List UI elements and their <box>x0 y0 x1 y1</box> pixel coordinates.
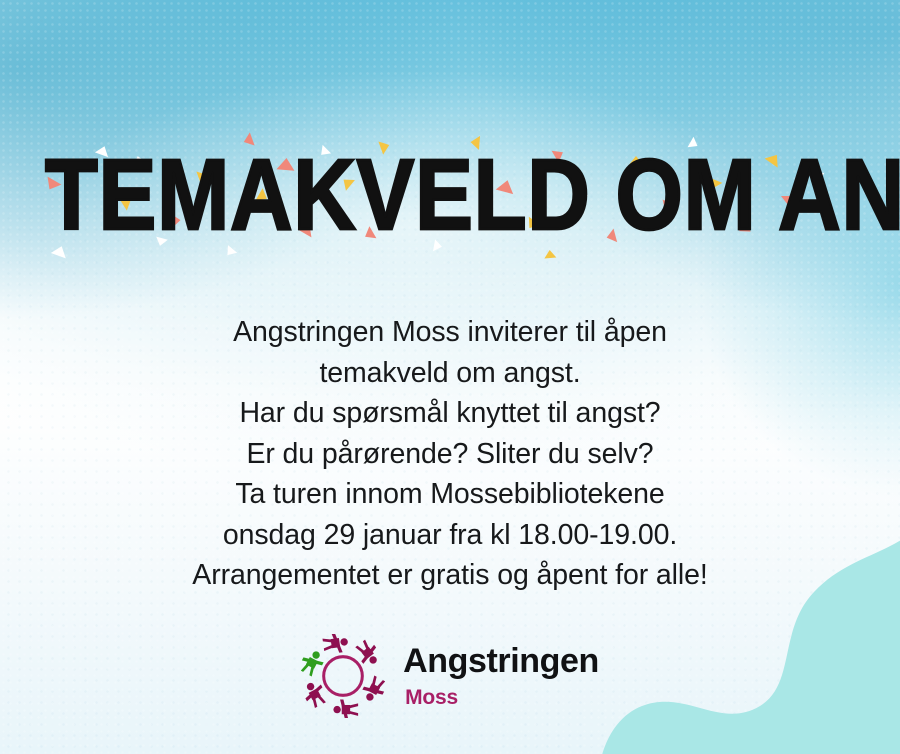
body-line: temakveld om angst. <box>0 353 900 394</box>
organization-logo: Angstringen Moss <box>0 634 900 718</box>
body-line: Angstringen Moss inviterer til åpen <box>0 312 900 353</box>
people-circle-icon <box>301 634 385 718</box>
body-line: Ta turen innom Mossebibliotekene <box>0 474 900 515</box>
body-line: Er du pårørende? Sliter du selv? <box>0 434 900 475</box>
logo-wordmark: Angstringen Moss <box>403 644 599 708</box>
person-figure-icon <box>322 634 349 655</box>
page-title: TEMAKVELD OM ANGST <box>45 146 855 246</box>
poster-canvas: TEMAKVELD OM ANGST Angstringen Moss invi… <box>0 0 900 754</box>
logo-name: Angstringen <box>403 644 599 678</box>
body-line: Har du spørsmål knyttet til angst? <box>0 393 900 434</box>
logo-subtitle: Moss <box>405 687 458 708</box>
body-line: Arrangementet er gratis og åpent for all… <box>0 555 900 596</box>
body-line: onsdag 29 januar fra kl 18.00-19.00. <box>0 515 900 556</box>
person-figure-icon <box>334 700 359 718</box>
body-copy: Angstringen Moss inviterer til åpen tema… <box>0 312 900 596</box>
